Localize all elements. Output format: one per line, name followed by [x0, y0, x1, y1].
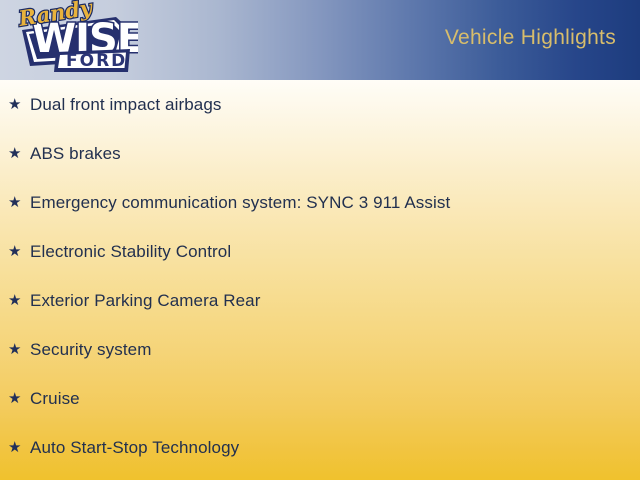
star-icon: ★	[8, 244, 30, 259]
list-item: ★ Auto Start-Stop Technology	[0, 423, 640, 472]
star-icon: ★	[8, 293, 30, 308]
star-icon: ★	[8, 342, 30, 357]
list-item: ★ Emergency communication system: SYNC 3…	[0, 178, 640, 227]
logo-artwork: WISE FORD Randy	[4, 0, 138, 78]
list-item: ★ ABS brakes	[0, 129, 640, 178]
list-item-label: Emergency communication system: SYNC 3 9…	[30, 193, 640, 213]
vehicle-highlights-slide: WISE FORD Randy Vehicle Highlights ★ Dua…	[0, 0, 640, 480]
header-banner: WISE FORD Randy Vehicle Highlights	[0, 0, 640, 80]
list-item: ★ Dual front impact airbags	[0, 80, 640, 129]
star-icon: ★	[8, 97, 30, 112]
list-item-label: Auto Start-Stop Technology	[30, 438, 640, 458]
list-item: ★ Security system	[0, 325, 640, 374]
list-item: ★ Electronic Stability Control	[0, 227, 640, 276]
star-icon: ★	[8, 146, 30, 161]
list-item-label: Cruise	[30, 389, 640, 409]
list-item-label: Electronic Stability Control	[30, 242, 640, 262]
star-icon: ★	[8, 195, 30, 210]
list-item-label: Dual front impact airbags	[30, 95, 640, 115]
list-item: ★ Cruise	[0, 374, 640, 423]
star-icon: ★	[8, 440, 30, 455]
vehicle-highlights-list: ★ Dual front impact airbags ★ ABS brakes…	[0, 80, 640, 472]
list-item-label: Exterior Parking Camera Rear	[30, 291, 640, 311]
list-item-label: Security system	[30, 340, 640, 360]
list-item-label: ABS brakes	[30, 144, 640, 164]
highlights-body: ★ Dual front impact airbags ★ ABS brakes…	[0, 80, 640, 480]
randy-wise-ford-logo: WISE FORD Randy	[4, 0, 138, 78]
list-item: ★ Exterior Parking Camera Rear	[0, 276, 640, 325]
logo-ford-text: FORD	[66, 51, 127, 71]
star-icon: ★	[8, 391, 30, 406]
page-title: Vehicle Highlights	[445, 26, 616, 50]
